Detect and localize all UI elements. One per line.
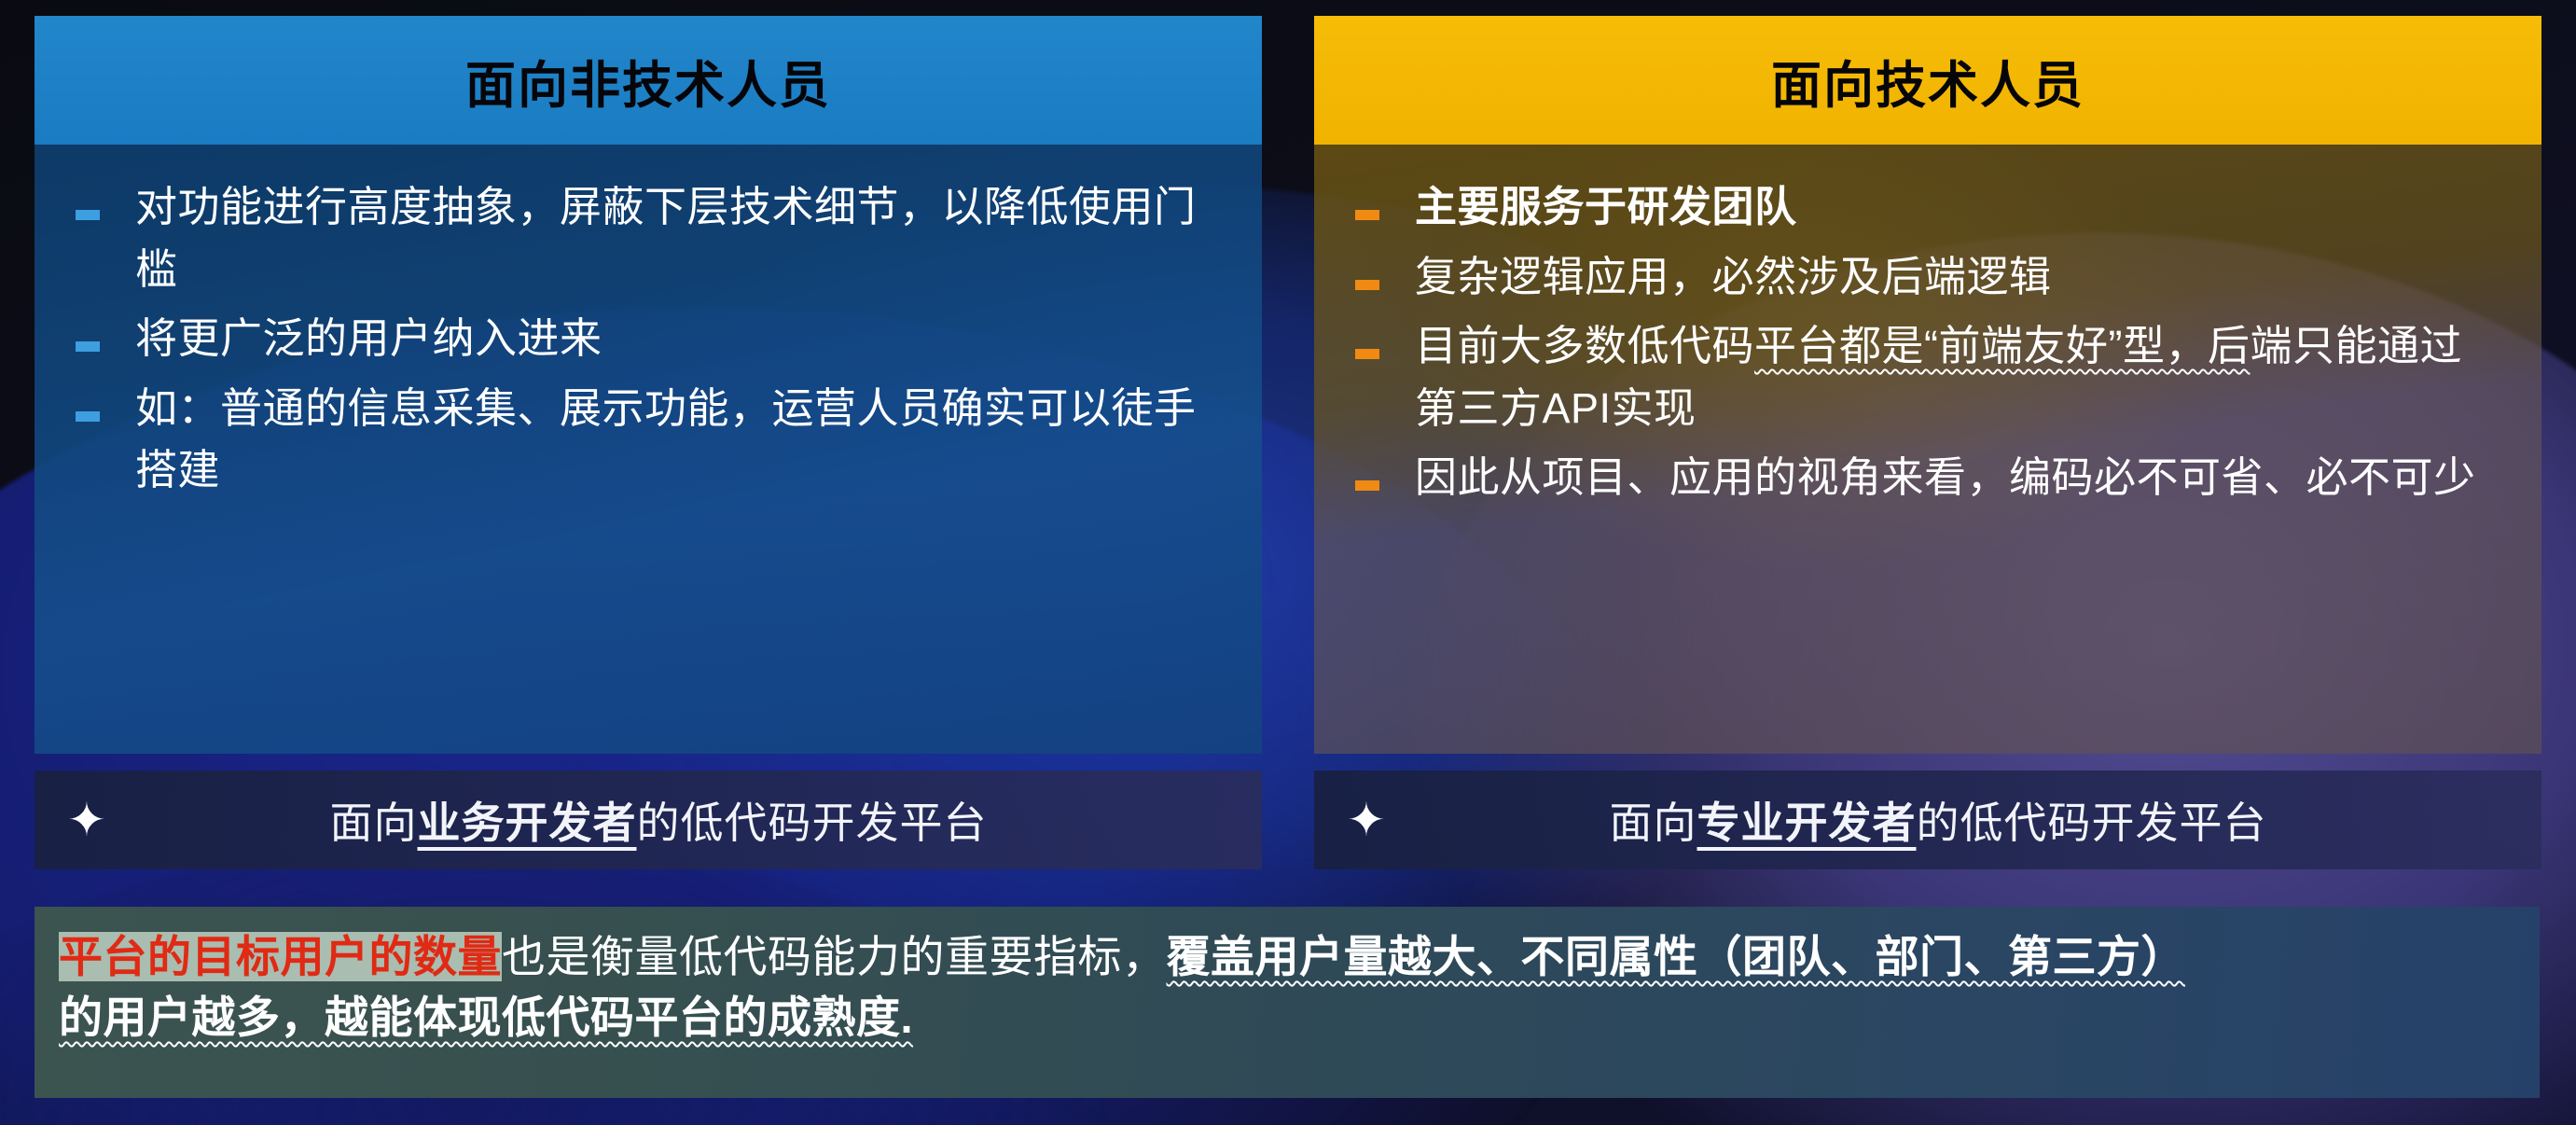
banner-bold-wavy-1: 覆盖用户量越大、不同属性（团队、部门、第三方）: [1167, 932, 2186, 981]
column-non-technical: 面向非技术人员 对功能进行高度抽象，屏蔽下层技术细节，以降低使用门槛 将更广泛的…: [35, 16, 1262, 869]
caption-prefix: 面向: [1610, 799, 1697, 847]
caption-emphasis: 专业开发者: [1697, 799, 1917, 847]
bullet-text: 对功能进行高度抽象，屏蔽下层技术细节，以降低使用门槛: [135, 176, 1225, 300]
bullet-text: 因此从项目、应用的视角来看，编码必不可省、必不可少: [1415, 447, 2476, 509]
list-item: 目前大多数低代码平台都是“前端友好”型，后端只能通过第三方API实现: [1355, 315, 2504, 439]
column-header-technical: 面向技术人员: [1314, 16, 2541, 145]
square-bullet-icon: [76, 210, 100, 220]
banner-line-2: 的用户越多，越能体现低代码平台的成熟度.: [59, 988, 2515, 1049]
square-bullet-icon: [1355, 280, 1379, 290]
list-item: 将更广泛的用户纳入进来: [76, 308, 1225, 370]
column-body-non-technical: 对功能进行高度抽象，屏蔽下层技术细节，以降低使用门槛 将更广泛的用户纳入进来 如…: [35, 145, 1262, 754]
list-item: 对功能进行高度抽象，屏蔽下层技术细节，以降低使用门槛: [76, 176, 1225, 300]
summary-banner: 平台的目标用户的数量也是衡量低代码能力的重要指标，覆盖用户量越大、不同属性（团队…: [35, 907, 2540, 1098]
square-bullet-icon: [1355, 349, 1379, 359]
column-technical: 面向技术人员 主要服务于研发团队 复杂逻辑应用，必然涉及后端逻辑 目前大多数低代…: [1314, 16, 2541, 869]
banner-highlight: 平台的目标用户的数量: [59, 932, 502, 981]
square-bullet-icon: [1355, 480, 1379, 491]
column-body-technical: 主要服务于研发团队 复杂逻辑应用，必然涉及后端逻辑 目前大多数低代码平台都是“前…: [1314, 145, 2541, 754]
bullet-text: 将更广泛的用户纳入进来: [135, 308, 602, 370]
caption-emphasis: 业务开发者: [418, 799, 637, 847]
bullet-list-non-technical: 对功能进行高度抽象，屏蔽下层技术细节，以降低使用门槛 将更广泛的用户纳入进来 如…: [76, 176, 1225, 502]
diamond-icon: ✦: [35, 797, 139, 843]
list-item: 如：普通的信息采集、展示功能，运营人员确实可以徒手搭建: [76, 378, 1225, 502]
bullet-text: 如：普通的信息采集、展示功能，运营人员确实可以徒手搭建: [135, 378, 1225, 502]
caption-prefix: 面向: [330, 799, 418, 847]
square-bullet-icon: [1355, 210, 1379, 220]
square-bullet-icon: [76, 341, 100, 352]
list-item: 因此从项目、应用的视角来看，编码必不可省、必不可少: [1355, 447, 2504, 509]
bullet-text-plain-a: 目前大多数低代码: [1415, 322, 1754, 369]
bullet-list-technical: 主要服务于研发团队 复杂逻辑应用，必然涉及后端逻辑 目前大多数低代码平台都是“前…: [1355, 176, 2504, 509]
caption-text: 面向业务开发者的低代码开发平台: [139, 789, 1262, 851]
banner-bold-wavy-2: 的用户越多，越能体现低代码平台的成熟度.: [59, 993, 913, 1042]
caption-text: 面向专业开发者的低代码开发平台: [1419, 789, 2541, 851]
square-bullet-icon: [76, 411, 100, 422]
bullet-text: 复杂逻辑应用，必然涉及后端逻辑: [1415, 246, 2052, 309]
column-header-non-technical: 面向非技术人员: [35, 16, 1262, 145]
bullet-text-wavy: 平台都是“前端友好”型，后: [1754, 322, 2250, 369]
column-caption-non-technical: ✦ 面向业务开发者的低代码开发平台: [35, 771, 1262, 869]
caption-suffix: 的低代码开发平台: [1917, 799, 2267, 847]
list-item: 主要服务于研发团队: [1355, 176, 2504, 239]
column-caption-technical: ✦ 面向专业开发者的低代码开发平台: [1314, 771, 2541, 869]
banner-line-1: 平台的目标用户的数量也是衡量低代码能力的重要指标，覆盖用户量越大、不同属性（团队…: [59, 927, 2515, 988]
diamond-icon: ✦: [1314, 797, 1419, 843]
caption-suffix: 的低代码开发平台: [637, 799, 988, 847]
bullet-text: 主要服务于研发团队: [1415, 176, 1797, 239]
bullet-text: 目前大多数低代码平台都是“前端友好”型，后端只能通过第三方API实现: [1415, 315, 2504, 439]
two-column-comparison: 面向非技术人员 对功能进行高度抽象，屏蔽下层技术细节，以降低使用门槛 将更广泛的…: [35, 16, 2541, 869]
list-item: 复杂逻辑应用，必然涉及后端逻辑: [1355, 246, 2504, 309]
banner-normal: 也是衡量低代码能力的重要指标，: [502, 932, 1167, 981]
